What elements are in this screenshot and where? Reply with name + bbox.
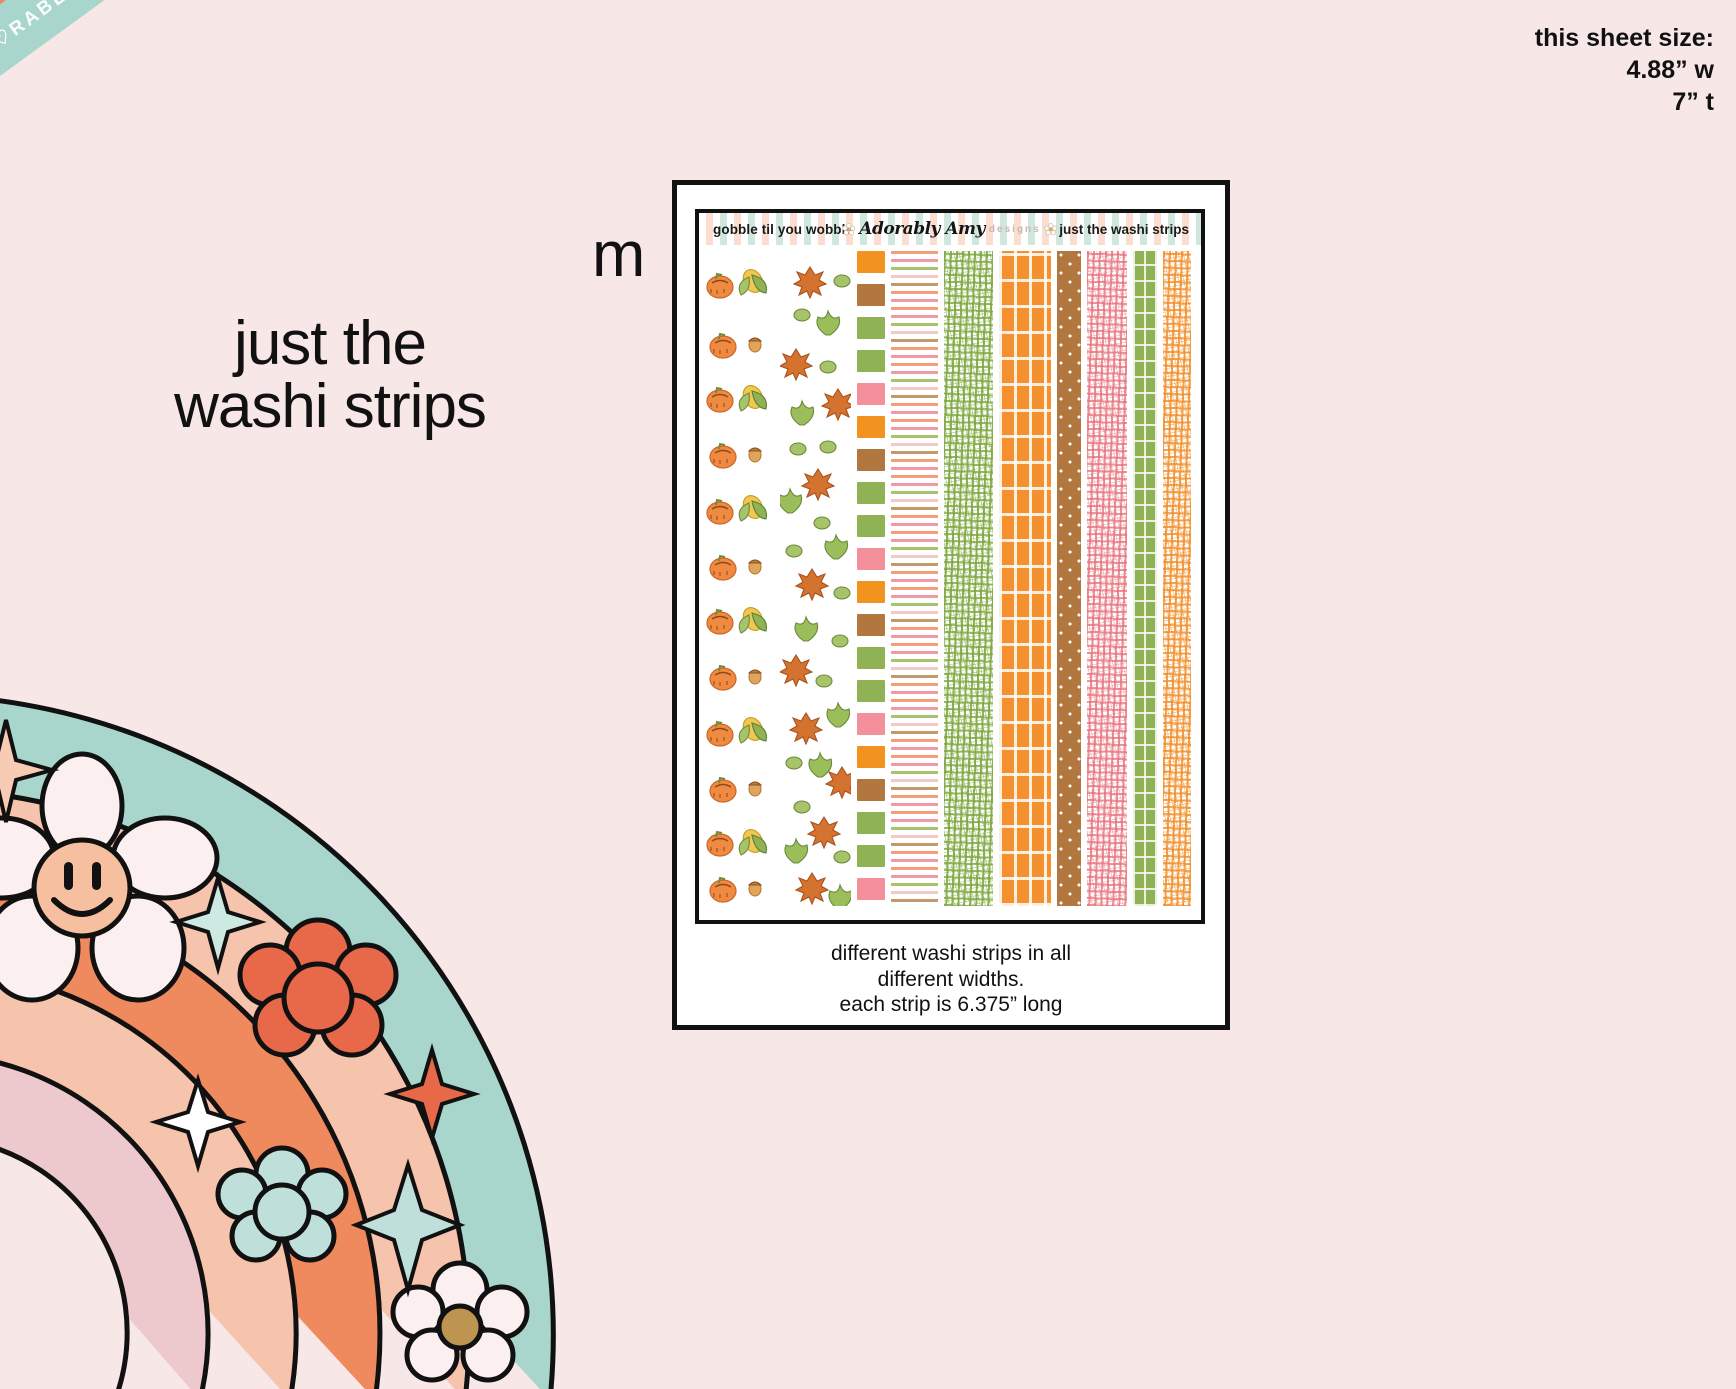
brand-script-logo: Adorably Amy xyxy=(859,219,985,239)
color-block xyxy=(857,680,885,702)
washi-strip-pink-texture[interactable] xyxy=(1087,251,1126,906)
sheet-header-left-label: gobble til you wobble xyxy=(713,222,853,237)
page-title-line1: just the xyxy=(234,309,426,378)
sticker-sheet-card[interactable]: gobble til you wobble Adorably Amy desig… xyxy=(672,180,1230,1030)
sheet-header-right-label: just the washi strips xyxy=(1059,222,1189,237)
color-block xyxy=(857,647,885,669)
color-block xyxy=(857,581,885,603)
page-title: just the washi strips xyxy=(120,312,540,438)
color-block xyxy=(857,449,885,471)
screenshot-stage: PLAN LIFE AD♡RABLY • PLAN LIFE AD♡RABLY … xyxy=(0,0,1736,1389)
color-block xyxy=(857,812,885,834)
washi-strip-brown-dots[interactable] xyxy=(1057,251,1081,906)
page-title-line2: washi strips xyxy=(120,375,540,438)
pumpkin-corn-pattern xyxy=(703,251,774,906)
color-block xyxy=(857,515,885,537)
color-block xyxy=(857,251,885,273)
watermark-ribbon-plan-life: PLAN LIFE AD♡RABLY • PLAN LIFE AD♡RABLY … xyxy=(0,0,931,126)
color-block xyxy=(857,317,885,339)
color-block xyxy=(857,284,885,306)
washi-strip-pumpkin-corn[interactable] xyxy=(703,251,774,906)
sheet-size-line2: 4.88” w xyxy=(1535,54,1714,86)
washi-strip-orange-texture[interactable] xyxy=(1163,251,1191,906)
washi-strip-row xyxy=(699,245,1201,920)
color-block xyxy=(857,746,885,768)
washi-strip-multicolor-stripes[interactable] xyxy=(891,251,938,906)
color-block xyxy=(857,614,885,636)
washi-strip-orange-grid[interactable] xyxy=(999,251,1051,906)
sheet-size-line1: this sheet size: xyxy=(1535,22,1714,54)
color-block xyxy=(857,383,885,405)
sheet-caption: different washi strips in all different … xyxy=(677,941,1225,1018)
color-block xyxy=(857,350,885,372)
color-block xyxy=(857,779,885,801)
daisy-icon xyxy=(1045,223,1058,236)
sheet-header-brand: Adorably Amy designs xyxy=(842,219,1057,239)
floating-letter-m: m xyxy=(592,222,645,286)
rainbow-decoration xyxy=(0,600,660,1389)
brand-sub-label: designs xyxy=(989,224,1041,235)
color-block xyxy=(857,416,885,438)
autumn-leaves-pattern xyxy=(780,251,851,906)
sheet-size-note: this sheet size: 4.88” w 7” t xyxy=(1535,22,1714,118)
caption-line3: each strip is 6.375” long xyxy=(677,992,1225,1018)
washi-strip-color-blocks[interactable] xyxy=(857,251,885,906)
washi-strip-green-grid[interactable] xyxy=(1133,251,1157,906)
watermark-ribbon-adorably-amy: AD♡RABLY AMY DESIGNS• AD♡RABLY AMY DESIG… xyxy=(0,0,768,252)
watermark-text-adorably-amy: AD♡RABLY AMY DESIGNS• AD♡RABLY AMY DESIG… xyxy=(0,0,531,73)
color-block xyxy=(857,845,885,867)
daisy-icon xyxy=(842,223,855,236)
sheet-size-line3: 7” t xyxy=(1535,86,1714,118)
color-block xyxy=(857,713,885,735)
sheet-header: gobble til you wobble Adorably Amy desig… xyxy=(699,213,1201,245)
caption-line2: different widths. xyxy=(677,967,1225,993)
color-block xyxy=(857,548,885,570)
washi-strip-autumn-leaves[interactable] xyxy=(780,251,851,906)
watermark-text-plan-life: PLAN LIFE AD♡RABLY • PLAN LIFE AD♡RABLY … xyxy=(35,0,635,2)
sticker-sheet-inner: gobble til you wobble Adorably Amy desig… xyxy=(695,209,1205,924)
color-block xyxy=(857,482,885,504)
washi-strip-green-texture[interactable] xyxy=(944,251,993,906)
color-block xyxy=(857,878,885,900)
caption-line1: different washi strips in all xyxy=(677,941,1225,967)
